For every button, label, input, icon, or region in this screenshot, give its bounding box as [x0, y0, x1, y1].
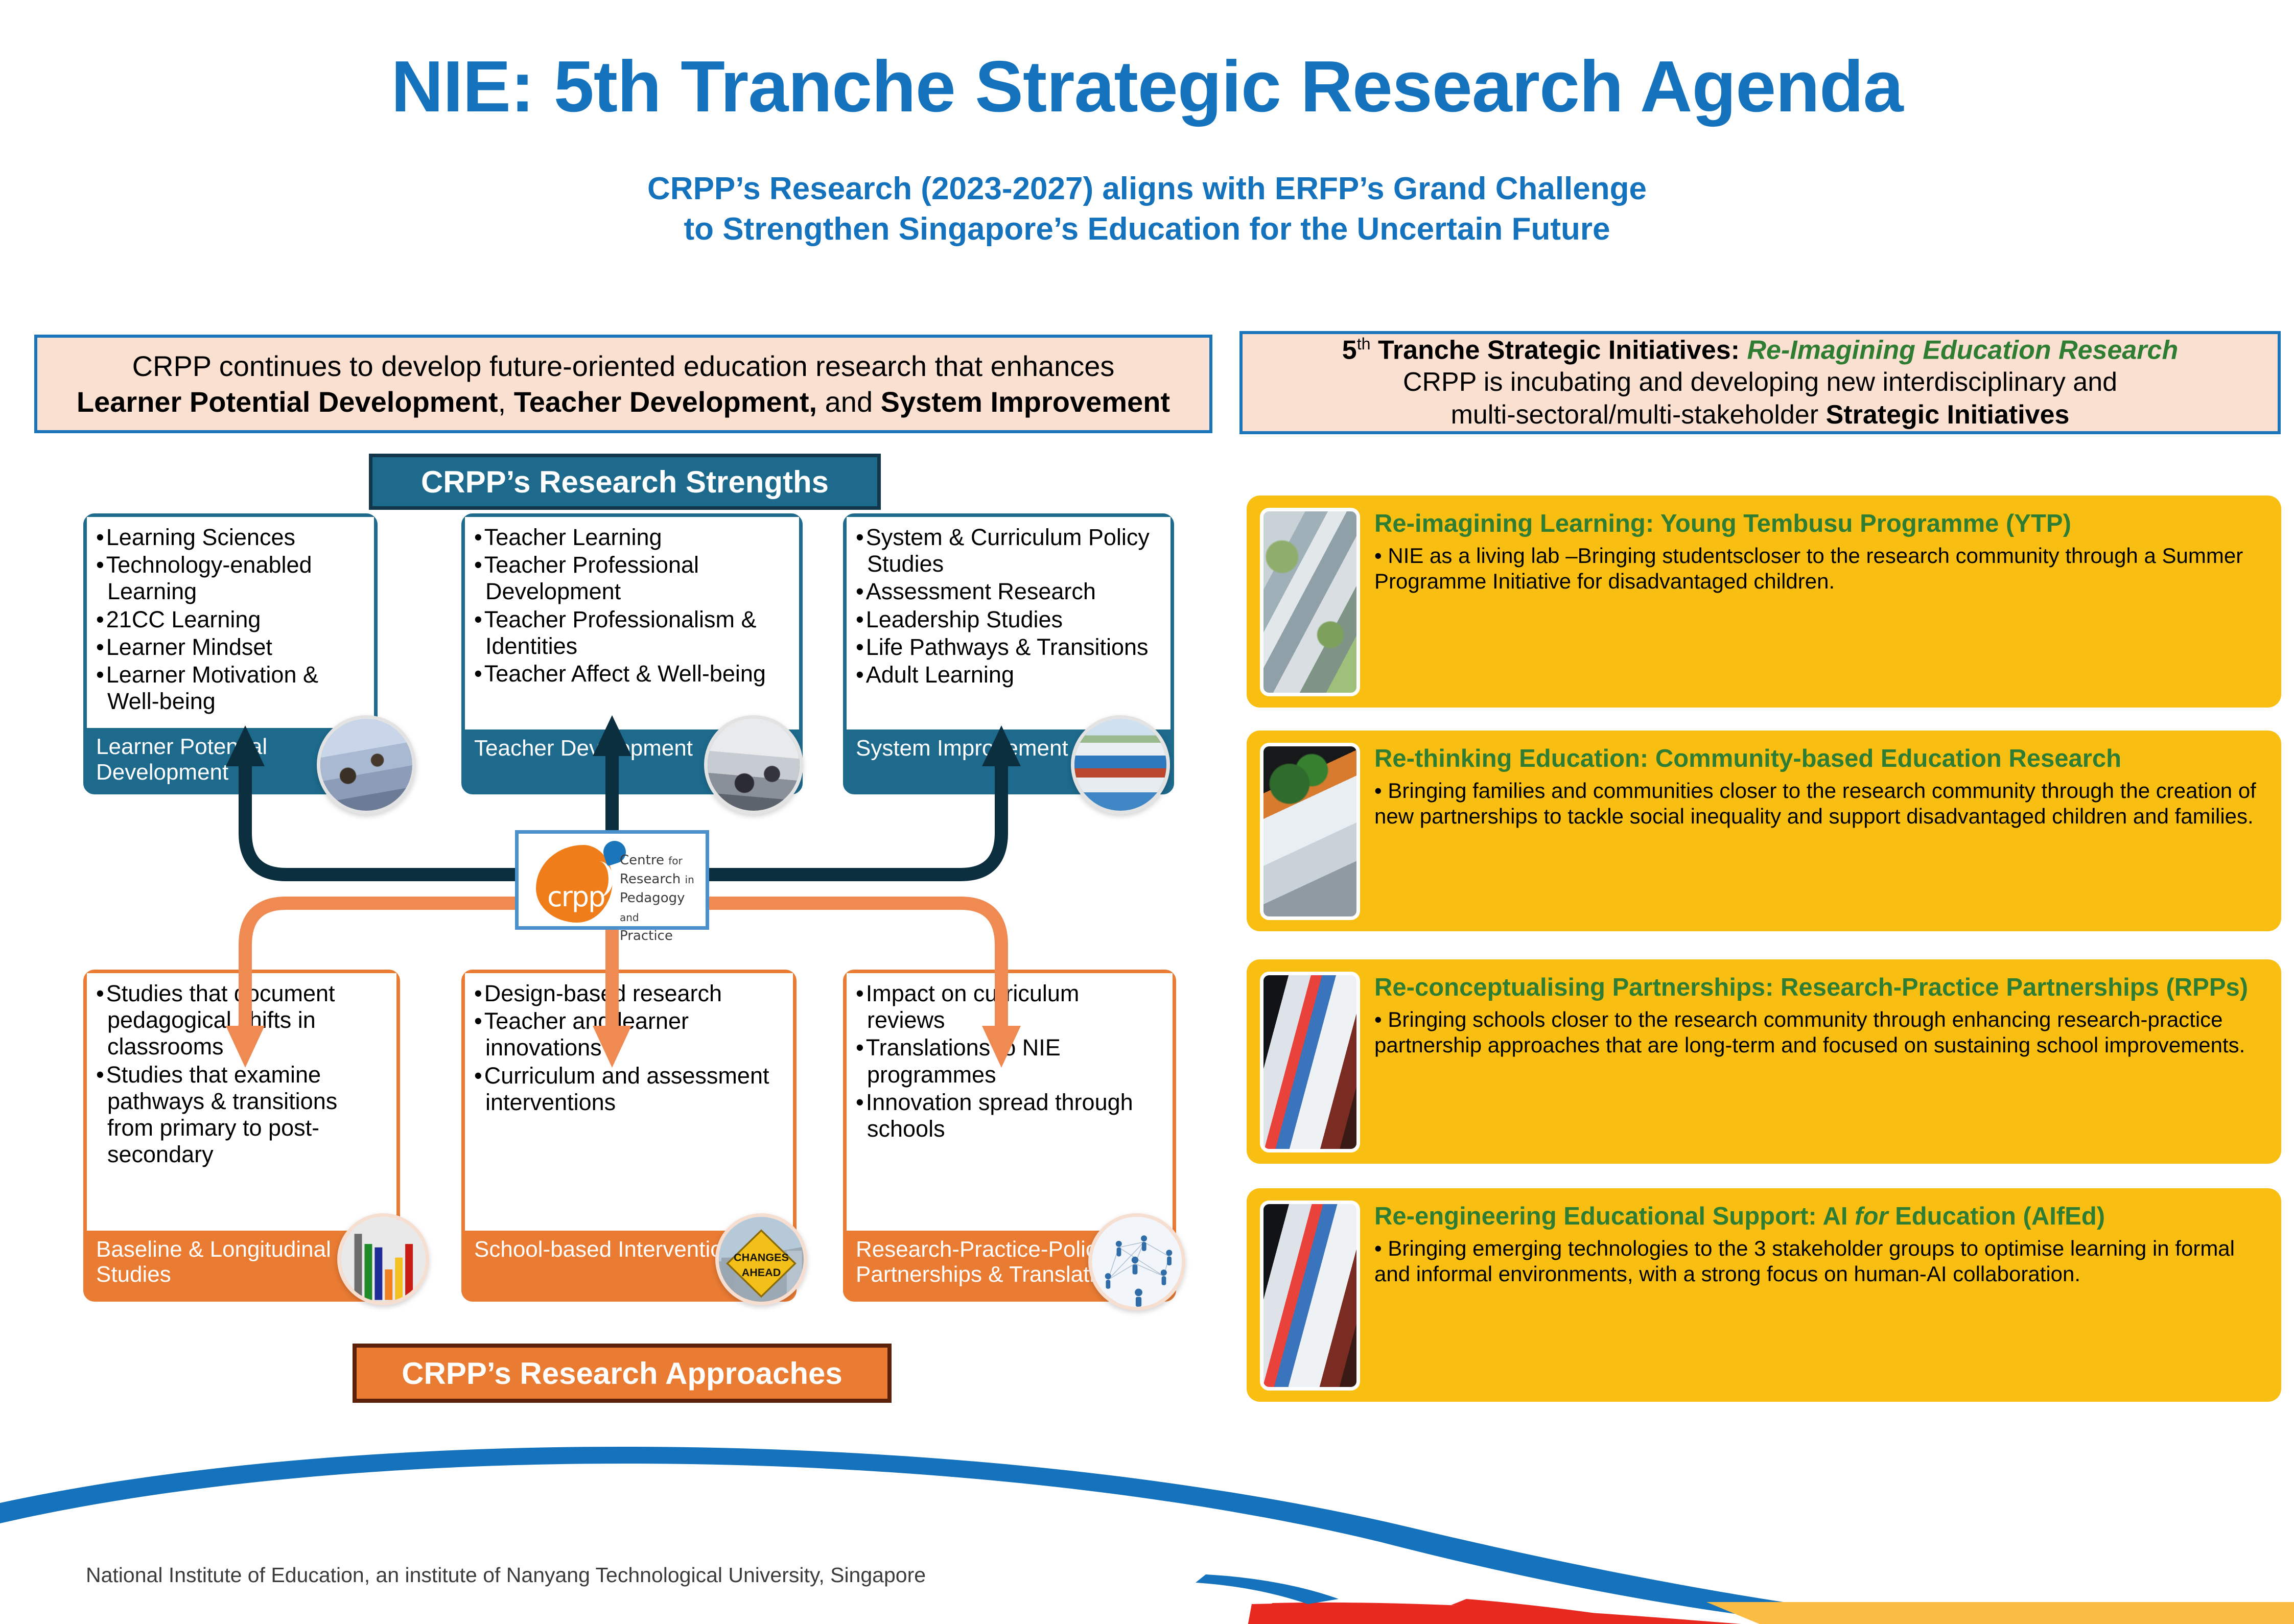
initiative-title-aifed-emphasis: for — [1855, 1203, 1888, 1230]
right-banner-line-3-term: Strategic Initiatives — [1826, 400, 2070, 430]
crpp-tagline-line-1: Centre — [620, 853, 668, 868]
initiative-title-cber: Re-thinking Education: Community-based E… — [1374, 743, 2268, 775]
crpp-logo: crpp Centre for Research in Pedagogy and… — [515, 830, 709, 930]
list-item: Innovation spread through schools — [856, 1089, 1163, 1142]
crpp-tagline: Centre for Research in Pedagogy and Prac… — [620, 851, 707, 946]
left-banner-term-learner: Learner Potential Development — [77, 386, 498, 418]
cityscape-photo-icon — [1071, 715, 1170, 814]
page-subtitle: CRPP’s Research (2023-2027) aligns with … — [0, 169, 2294, 250]
footer-institution-text: National Institute of Education, an inst… — [86, 1563, 926, 1587]
nie-campus-aerial-photo-icon — [1260, 508, 1360, 696]
list-item: Teacher Professionalism & Identities — [474, 606, 790, 660]
list-item: Learner Mindset — [96, 634, 365, 661]
list-item: Learner Motivation & Well-being — [96, 662, 365, 715]
approach-bullets-bls: Studies that document pedagogical shifts… — [87, 973, 396, 1231]
initiative-card-cber[interactable]: Re-thinking Education: Community-based E… — [1247, 731, 2281, 931]
approach-bullets-sbi: Design-based research Teacher and learne… — [465, 973, 793, 1231]
right-banner-line-3-lead: multi-sectoral/multi-stakeholder — [1451, 400, 1826, 430]
strength-bullets-td: Teacher Learning Teacher Professional De… — [465, 517, 799, 729]
section-chip-research-strengths: CRPP’s Research Strengths — [369, 454, 881, 510]
initiative-card-aifed[interactable]: Re-engineering Educational Support: AI f… — [1247, 1188, 2281, 1402]
initiative-title-aifed: Re-engineering Educational Support: AI f… — [1374, 1201, 2268, 1233]
page-title: NIE: 5th Tranche Strategic Research Agen… — [0, 49, 2294, 125]
crpp-tagline-line-2-small: in — [685, 874, 694, 886]
initiative-card-ytp[interactable]: Re-imagining Learning: Young Tembusu Pro… — [1247, 496, 2281, 708]
list-item: Adult Learning — [856, 662, 1161, 688]
list-item: Studies that document pedagogical shifts… — [96, 980, 387, 1061]
right-banner-heading: Tranche Strategic Initiatives: — [1371, 335, 1747, 365]
list-item: Technology-enabled Learning — [96, 552, 365, 605]
list-item: Teacher Learning — [474, 524, 790, 551]
crpp-wordmark: crpp — [547, 881, 604, 913]
list-item: Assessment Research — [856, 578, 1161, 605]
list-item: Teacher and learner innovations — [474, 1008, 784, 1061]
crpp-tagline-line-3: Pedagogy — [620, 890, 685, 906]
right-banner-ordinal: 5 — [1342, 335, 1357, 365]
network-people-photo-icon — [1088, 1213, 1185, 1310]
left-banner-sep-2: and — [817, 386, 881, 418]
right-banner-line-2: CRPP is incubating and developing new in… — [1403, 366, 2117, 398]
list-item: System & Curriculum Policy Studies — [856, 524, 1161, 577]
initiative-title-ytp: Re-imagining Learning: Young Tembusu Pro… — [1374, 508, 2268, 540]
list-item: Translations to NIE programmes — [856, 1034, 1163, 1088]
list-item: Life Pathways & Transitions — [856, 634, 1161, 661]
initiative-desc-ytp: • NIE as a living lab –Bringing students… — [1374, 543, 2268, 595]
list-item: Teacher Professional Development — [474, 552, 790, 605]
left-banner-term-teacher: Teacher Development, — [514, 386, 817, 418]
bar-chart-photo-icon — [337, 1213, 429, 1305]
initiative-title-aifed-part-1: Re-engineering Educational Support: AI — [1374, 1203, 1855, 1230]
list-item: Studies that examine pathways & transiti… — [96, 1062, 387, 1168]
initiative-card-rpps[interactable]: Re-conceptualising Partnerships: Researc… — [1247, 959, 2281, 1164]
classroom-photo-icon — [704, 715, 803, 814]
initiative-title-aifed-part-2: Education (AIfEd) — [1888, 1203, 2105, 1230]
approach-bullets-rpp: Impact on curriculum reviews Translation… — [847, 973, 1173, 1231]
crpp-tagline-line-1-small: for — [668, 855, 683, 867]
sign-caption-line-1: CHANGES — [734, 1251, 789, 1263]
subtitle-line-2: to Strengthen Singapore’s Education for … — [0, 209, 2294, 249]
strength-bullets-si: System & Curriculum Policy Studies Asses… — [847, 517, 1171, 729]
initiative-desc-cber: • Bringing families and communities clos… — [1374, 778, 2268, 830]
initiative-desc-aifed: • Bringing emerging technologies to the … — [1374, 1236, 2268, 1287]
list-item: Learning Sciences — [96, 524, 365, 551]
initiative-desc-rpps: • Bringing schools closer to the researc… — [1374, 1007, 2268, 1058]
slide-canvas: NIE: 5th Tranche Strategic Research Agen… — [0, 0, 2294, 1624]
left-banner-line-1: CRPP continues to develop future-oriente… — [132, 348, 1115, 384]
strength-bullets-lpd: Learning Sciences Technology-enabled Lea… — [87, 517, 374, 728]
list-item: 21CC Learning — [96, 606, 365, 633]
list-item: Curriculum and assessment interventions — [474, 1063, 784, 1116]
section-chip-research-approaches: CRPP’s Research Approaches — [353, 1344, 892, 1403]
list-item: Design-based research — [474, 980, 784, 1007]
left-banner-line-2: Learner Potential Development, Teacher D… — [77, 384, 1170, 420]
right-statement-banner: 5th Tranche Strategic Initiatives: Re-Im… — [1239, 331, 2281, 434]
students-planting-photo-icon — [1260, 743, 1360, 920]
right-banner-line-3: multi-sectoral/multi-stakeholder Strateg… — [1451, 399, 2070, 431]
crpp-tagline-line-4: Practice — [620, 928, 673, 944]
initiative-title-rpps: Re-conceptualising Partnerships: Researc… — [1374, 972, 2268, 1004]
list-item: Impact on curriculum reviews — [856, 980, 1163, 1033]
right-banner-line-1: 5th Tranche Strategic Initiatives: Re-Im… — [1342, 334, 2178, 367]
right-banner-ordinal-suffix: th — [1357, 335, 1371, 353]
list-item: Leadership Studies — [856, 606, 1161, 633]
conference-speaker-photo-icon — [1260, 972, 1360, 1152]
left-statement-banner: CRPP continues to develop future-oriente… — [34, 335, 1212, 433]
subtitle-line-1: CRPP’s Research (2023-2027) aligns with … — [0, 169, 2294, 209]
conference-speaker-photo-icon — [1260, 1201, 1360, 1391]
crpp-tagline-line-2: Research — [620, 872, 685, 887]
students-photo-icon — [317, 715, 416, 814]
right-banner-theme: Re-Imagining Education Research — [1747, 335, 2179, 365]
crpp-tagline-line-3-small: and — [620, 911, 639, 924]
footer-swoosh-art — [0, 1441, 2294, 1624]
sign-caption-line-2: AHEAD — [742, 1266, 781, 1279]
list-item: Teacher Affect & Well-being — [474, 661, 790, 687]
changes-ahead-sign-photo-icon: CHANGES AHEAD — [715, 1213, 807, 1305]
left-banner-term-system: System Improvement — [881, 386, 1170, 418]
left-banner-sep-1: , — [498, 386, 514, 418]
